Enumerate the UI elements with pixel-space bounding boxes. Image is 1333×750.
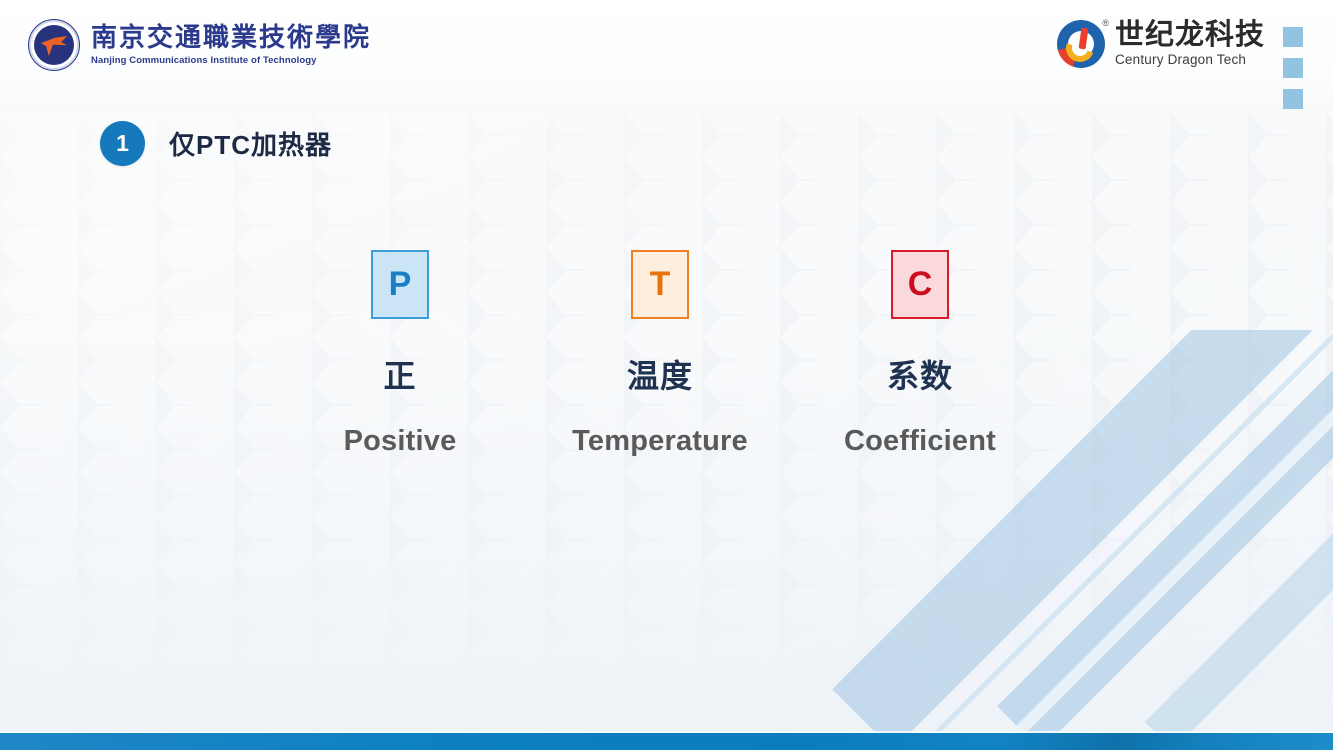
brand-name-block: 世纪龙科技 Century Dragon Tech (1115, 21, 1265, 67)
section-title: 1 仅PTC加热器 (100, 121, 332, 166)
label-en-t: Temperature (572, 425, 748, 458)
letter-box-c: C (891, 250, 949, 319)
label-cn-t: 温度 (627, 360, 693, 392)
brand-name-cn: 世纪龙科技 (1115, 21, 1265, 50)
decoration-square (1283, 27, 1303, 47)
label-cn-c: 系数 (887, 360, 953, 392)
section-number-badge: 1 (100, 121, 145, 166)
decoration-square (1283, 89, 1303, 109)
ribbon-band-gap (1001, 330, 1333, 750)
school-name-en: Nanjing Communications Institute of Tech… (91, 55, 371, 66)
letter-box-t: T (631, 250, 689, 319)
slide-canvas: 南京交通職業技術學院 Nanjing Communications Instit… (0, 0, 1333, 750)
ribbon-band-3 (1145, 330, 1333, 750)
brand-name-en: Century Dragon Tech (1115, 52, 1265, 67)
registered-trademark-icon: ® (1102, 18, 1109, 28)
school-name-block: 南京交通職業技術學院 Nanjing Communications Instit… (91, 24, 371, 66)
slide-header: 南京交通職業技術學院 Nanjing Communications Instit… (0, 0, 1333, 112)
school-seal-ring (29, 20, 79, 70)
ribbon-band-2 (997, 330, 1333, 750)
page-title: 仅PTC加热器 (169, 125, 332, 162)
partner-branding: ® 世纪龙科技 Century Dragon Tech (1057, 20, 1265, 68)
label-en-p: Positive (344, 425, 457, 458)
footer-bar (0, 733, 1333, 750)
ptc-acronym-row: P 正 Positive T 温度 Temperature C 系数 Coeff… (300, 250, 1020, 458)
school-name-cn: 南京交通職業技術學院 (91, 24, 371, 52)
ptc-column-t: T 温度 Temperature (560, 250, 760, 458)
ptc-column-c: C 系数 Coefficient (820, 250, 1020, 458)
century-dragon-circle-icon: ® (1057, 20, 1105, 68)
school-branding: 南京交通職業技術學院 Nanjing Communications Instit… (28, 19, 371, 71)
header-square-decoration (1283, 27, 1303, 109)
letter-box-p: P (371, 250, 429, 319)
label-cn-p: 正 (383, 360, 416, 392)
footer-bar-shade (1003, 733, 1333, 750)
label-en-c: Coefficient (844, 425, 996, 458)
ptc-column-p: P 正 Positive (300, 250, 500, 458)
decoration-square (1283, 58, 1303, 78)
school-seal-icon (28, 19, 80, 71)
